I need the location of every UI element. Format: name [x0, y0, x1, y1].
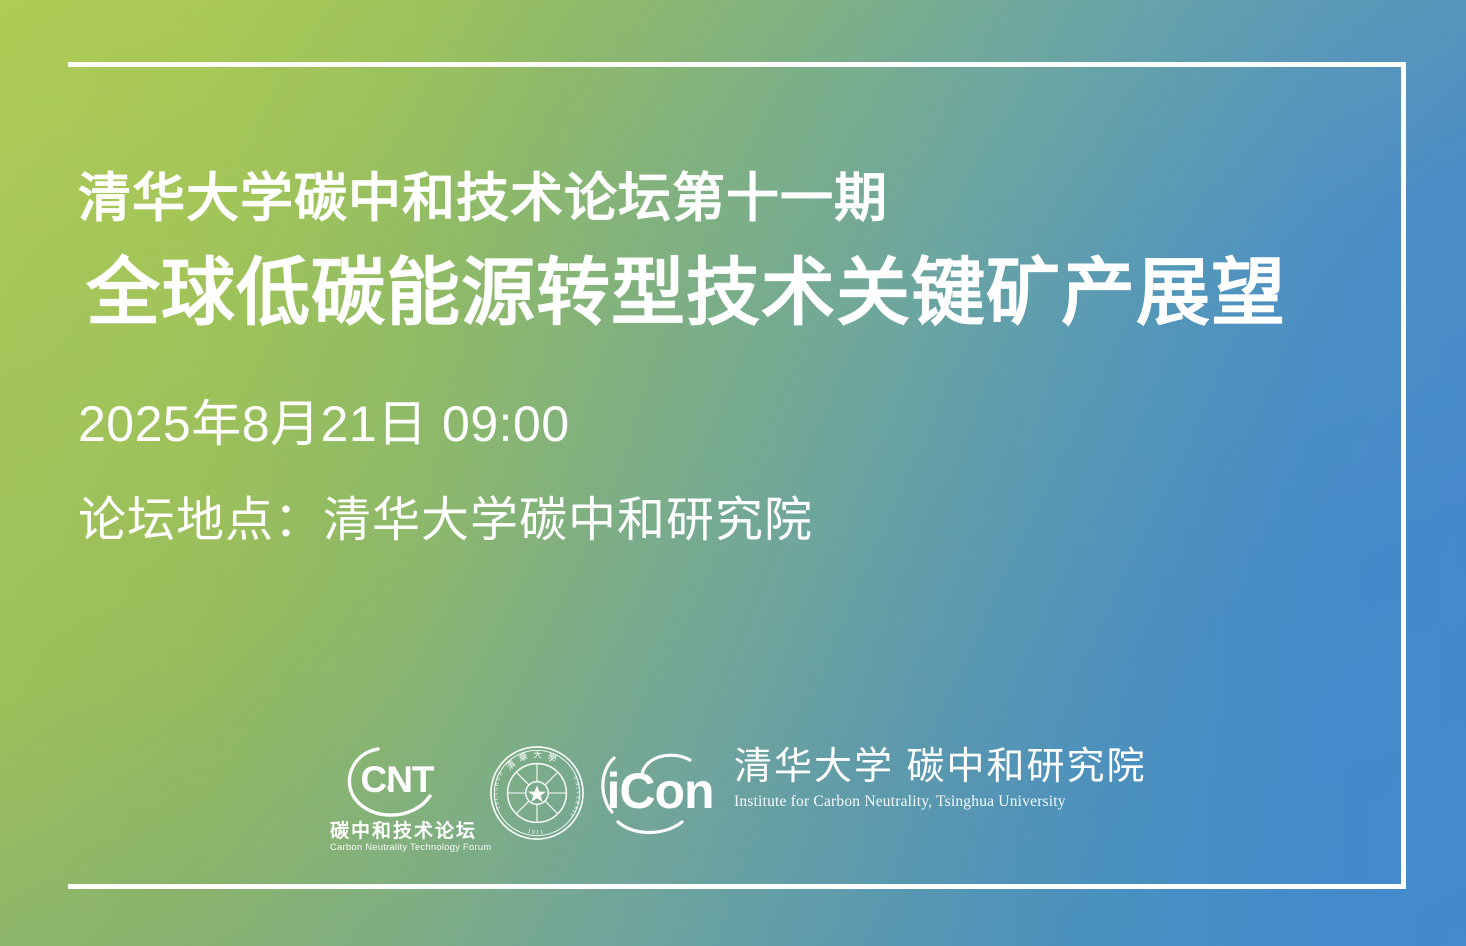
icon-institute-logo: iCon — [598, 746, 720, 842]
poster-text-block: 清华大学碳中和技术论坛第十一期 全球低碳能源转型技术关键矿产展望 2025年8月… — [78, 168, 1368, 549]
svg-text:1911: 1911 — [527, 829, 545, 836]
event-datetime: 2025年8月21日 09:00 — [78, 394, 1368, 454]
frame-right-line — [1401, 62, 1406, 889]
frame-bottom-line — [68, 884, 1406, 889]
sponsor-logo-strip: CNT 碳中和技术论坛 Carbon Neutrality Technology… — [330, 738, 1112, 868]
svg-text:CNT: CNT — [360, 759, 434, 800]
institute-name-cn: 清华大学 碳中和研究院 — [734, 748, 1112, 788]
event-venue: 论坛地点：清华大学碳中和研究院 — [78, 492, 1368, 550]
tsinghua-seal-icon: 清 華 大 學 TSINGHUA UNIVERSITY 1911 — [488, 744, 586, 842]
cnt-forum-logo: CNT 碳中和技术论坛 Carbon Neutrality Technology… — [330, 738, 470, 866]
page-title: 全球低碳能源转型技术关键矿产展望 — [86, 249, 1376, 336]
cnt-name-cn: 碳中和技术论坛 — [330, 816, 470, 843]
cnt-name-en: Carbon Neutrality Technology Forum — [330, 842, 475, 853]
forum-series-title: 清华大学碳中和技术论坛第十一期 — [78, 168, 1368, 231]
icon-swoosh-icon: iCon — [598, 746, 720, 842]
cnt-swoosh-icon: CNT — [344, 742, 450, 822]
svg-text:清 華 大 學: 清 華 大 學 — [504, 749, 560, 773]
institute-logo: 清华大学 碳中和研究院 Institute for Carbon Neutral… — [734, 748, 1112, 811]
event-poster: 清华大学碳中和技术论坛第十一期 全球低碳能源转型技术关键矿产展望 2025年8月… — [0, 0, 1466, 946]
svg-text:iCon: iCon — [606, 763, 713, 819]
institute-name-en: Institute for Carbon Neutrality, Tsinghu… — [734, 793, 1112, 811]
frame-top-line — [68, 62, 1406, 67]
